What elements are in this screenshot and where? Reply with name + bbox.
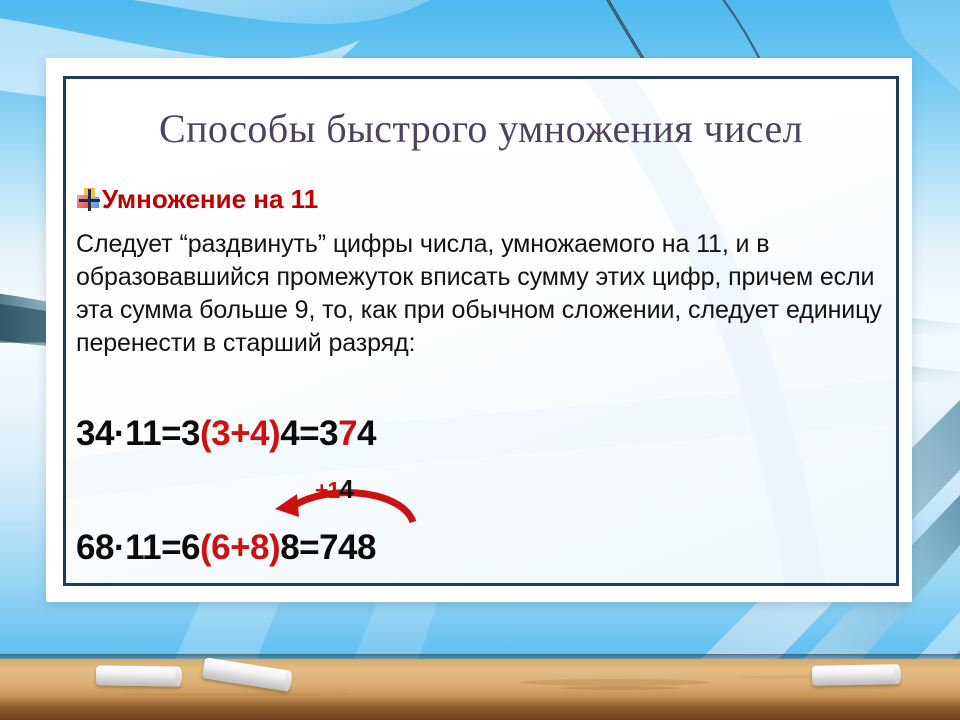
list-item — [812, 664, 900, 686]
slide-content: Способы быстрого умножения чисел Умножен… — [63, 76, 899, 586]
carry-digit: 4 — [339, 474, 352, 504]
section-heading-label: Умножение на 11 — [102, 184, 318, 215]
carry-plus-one: +1 — [315, 477, 339, 503]
equation-part: 8=748 — [280, 528, 376, 567]
equation-part: 68·11=6 — [76, 528, 200, 567]
slide-canvas: Способы быстрого умножения чисел Умножен… — [0, 0, 960, 720]
colored-squares-cross-icon — [77, 188, 101, 212]
page-title: Способы быстрого умножения чисел — [63, 108, 899, 150]
equation-68: 68·11=6(6+8)8=748 — [76, 528, 376, 568]
list-item — [96, 665, 181, 686]
section-heading: Умножение на 11 — [77, 184, 318, 215]
equation-part-highlight: 7 — [338, 414, 357, 453]
body-paragraph: Следует “раздвинуть” цифры числа, умножа… — [76, 228, 894, 360]
equation-34: 34·11=3(3+4)4=374 — [76, 414, 376, 454]
equation-part-highlight: (3+4) — [200, 414, 280, 453]
carry-text: +14 — [315, 474, 353, 505]
equation-part: 4=3 — [280, 414, 338, 453]
chalk-tray — [0, 654, 960, 720]
equation-part-highlight: (6+8) — [200, 528, 280, 567]
equation-part: 34·11=3 — [76, 414, 200, 453]
carry-annotation: +14 — [263, 474, 433, 526]
equation-part: 4 — [357, 414, 376, 453]
